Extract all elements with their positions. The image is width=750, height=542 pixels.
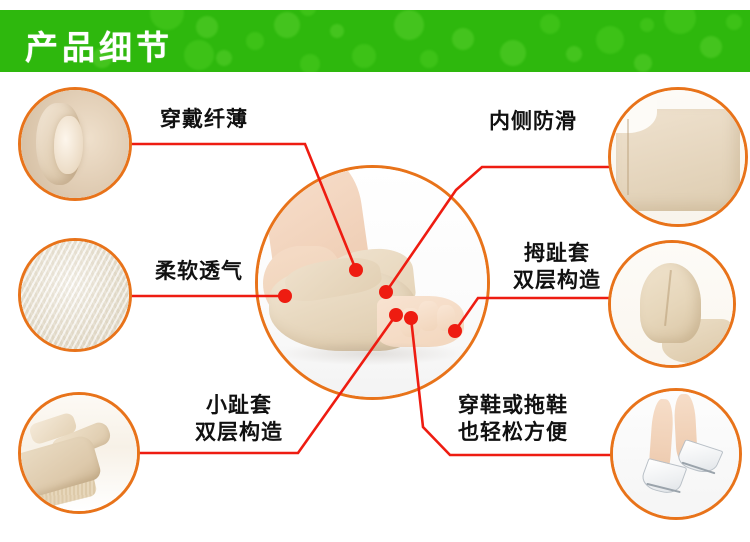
thumbnail-inner-antislip[interactable] xyxy=(608,87,748,227)
bokeh-dot xyxy=(330,24,344,38)
silicone-sleeve-photo xyxy=(21,90,129,198)
bokeh-dot xyxy=(540,14,560,34)
label-inner-antislip: 内侧防滑 xyxy=(489,108,577,135)
thumbnail-soft-breathable[interactable] xyxy=(18,238,132,352)
bokeh-dot xyxy=(726,14,742,30)
label-thin-wear: 穿戴纤薄 xyxy=(160,106,248,133)
legs-with-shoes-photo xyxy=(613,391,739,517)
silicone-pad-photo xyxy=(611,90,745,224)
label-big-toe: 拇趾套 双层构造 xyxy=(502,240,612,294)
bokeh-dot xyxy=(566,46,582,62)
bokeh-dot xyxy=(700,36,722,58)
foot-toe xyxy=(400,308,421,338)
thumbnail-thin-wear[interactable] xyxy=(18,87,132,201)
bokeh-dot xyxy=(300,10,316,16)
header-banner: 产品细节 xyxy=(0,10,750,72)
bokeh-dot xyxy=(640,18,654,32)
mesh-texture-photo xyxy=(21,241,129,349)
bokeh-dot xyxy=(394,10,424,40)
toe-cap-photo xyxy=(611,243,733,365)
pad-seam xyxy=(627,119,629,194)
thumbnail-small-toe[interactable] xyxy=(18,392,140,514)
thumbnail-big-toe[interactable] xyxy=(608,240,736,368)
bokeh-dot xyxy=(352,44,376,68)
bokeh-dot xyxy=(420,50,438,68)
bokeh-dot xyxy=(184,40,214,70)
bokeh-dot xyxy=(246,32,264,50)
bokeh-dot xyxy=(596,26,624,54)
folded-strap-photo xyxy=(21,395,137,511)
label-soft-breathable: 柔软透气 xyxy=(155,258,243,285)
bokeh-dot xyxy=(216,50,232,66)
foot-toe xyxy=(418,301,439,331)
foot-shadow xyxy=(281,342,460,365)
label-shoes: 穿鞋或拖鞋 也轻松方便 xyxy=(437,392,589,446)
product-detail-infographic: 产品细节 xyxy=(0,0,750,542)
bokeh-dot xyxy=(664,10,696,34)
bokeh-dot xyxy=(300,54,320,72)
bokeh-dot xyxy=(452,28,474,50)
bokeh-dot xyxy=(274,12,300,38)
label-small-toe: 小趾套 双层构造 xyxy=(178,392,300,446)
bokeh-dot xyxy=(500,40,526,66)
bokeh-dot xyxy=(634,54,652,72)
hero-image-circle xyxy=(255,165,490,400)
foot-toe xyxy=(437,305,455,330)
page-title: 产品细节 xyxy=(25,21,173,69)
bokeh-dot xyxy=(196,16,218,38)
thumbnail-shoes[interactable] xyxy=(610,388,742,520)
